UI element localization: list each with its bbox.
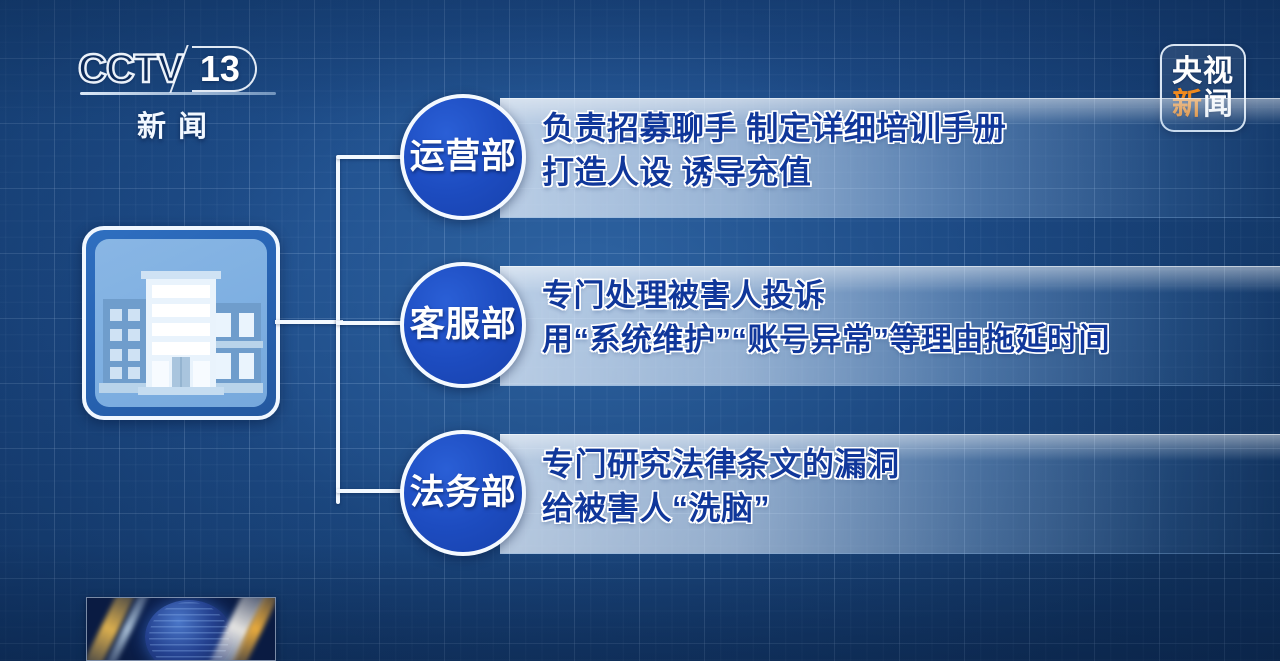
branch-text-line-2: 给被害人“洗脑”	[542, 486, 1272, 530]
connector-stem	[275, 320, 343, 324]
cctv-channel-pill: 13	[192, 46, 257, 92]
branch-row-customer-service: 客服部 专门处理被害人投诉 用“系统维护”“账号异常”等理由拖延时间	[392, 252, 1272, 402]
branch-circle-label: 运营部	[410, 138, 517, 176]
branch-text-line-1: 专门处理被害人投诉	[542, 274, 1272, 318]
branch-text-line-2: 打造人设 诱导充值	[542, 150, 1272, 194]
company-icon-backdrop	[95, 239, 267, 407]
company-building-icon	[97, 257, 265, 407]
cctv-wordmark: CCTV	[78, 47, 183, 91]
branch-circle-operations[interactable]: 运营部	[400, 94, 526, 220]
connector-bracket	[275, 140, 410, 520]
cctv-logo-underline	[80, 92, 276, 95]
company-node[interactable]	[82, 226, 280, 420]
branch-text-customer-service: 专门处理被害人投诉 用“系统维护”“账号异常”等理由拖延时间	[542, 274, 1272, 362]
broadcast-stage: CCTV 13 新闻 央视 新闻	[0, 0, 1280, 661]
branch-text-line-1: 负责招募聊手 制定详细培训手册	[542, 106, 1272, 150]
cctv-channel-number: 13	[200, 50, 240, 88]
branch-text-operations: 负责招募聊手 制定详细培训手册 打造人设 诱导充值	[542, 106, 1272, 194]
branch-row-legal: 法务部 专门研究法律条文的漏洞 给被害人“洗脑”	[392, 420, 1272, 570]
connector-trunk	[336, 157, 340, 504]
cctv-logo-row: CCTV 13	[78, 44, 278, 94]
branch-text-legal: 专门研究法律条文的漏洞 给被害人“洗脑”	[542, 442, 1272, 530]
branch-circle-legal[interactable]: 法务部	[400, 430, 526, 556]
branch-text-line-2: 用“系统维护”“账号异常”等理由拖延时间	[542, 318, 1272, 362]
branch-circle-label: 法务部	[410, 474, 517, 512]
news-globe-thumbnail[interactable]	[86, 597, 276, 661]
branch-text-line-1: 专门研究法律条文的漏洞	[542, 442, 1272, 486]
branch-circle-customer-service[interactable]: 客服部	[400, 262, 526, 388]
branch-circle-label: 客服部	[410, 306, 517, 344]
badge-line-one: 央视	[1172, 56, 1234, 88]
cctv13-logo: CCTV 13 新闻	[78, 44, 278, 140]
cctv-logo-subtitle: 新闻	[78, 103, 266, 145]
branch-row-operations: 运营部 负责招募聊手 制定详细培训手册 打造人设 诱导充值	[392, 84, 1272, 234]
